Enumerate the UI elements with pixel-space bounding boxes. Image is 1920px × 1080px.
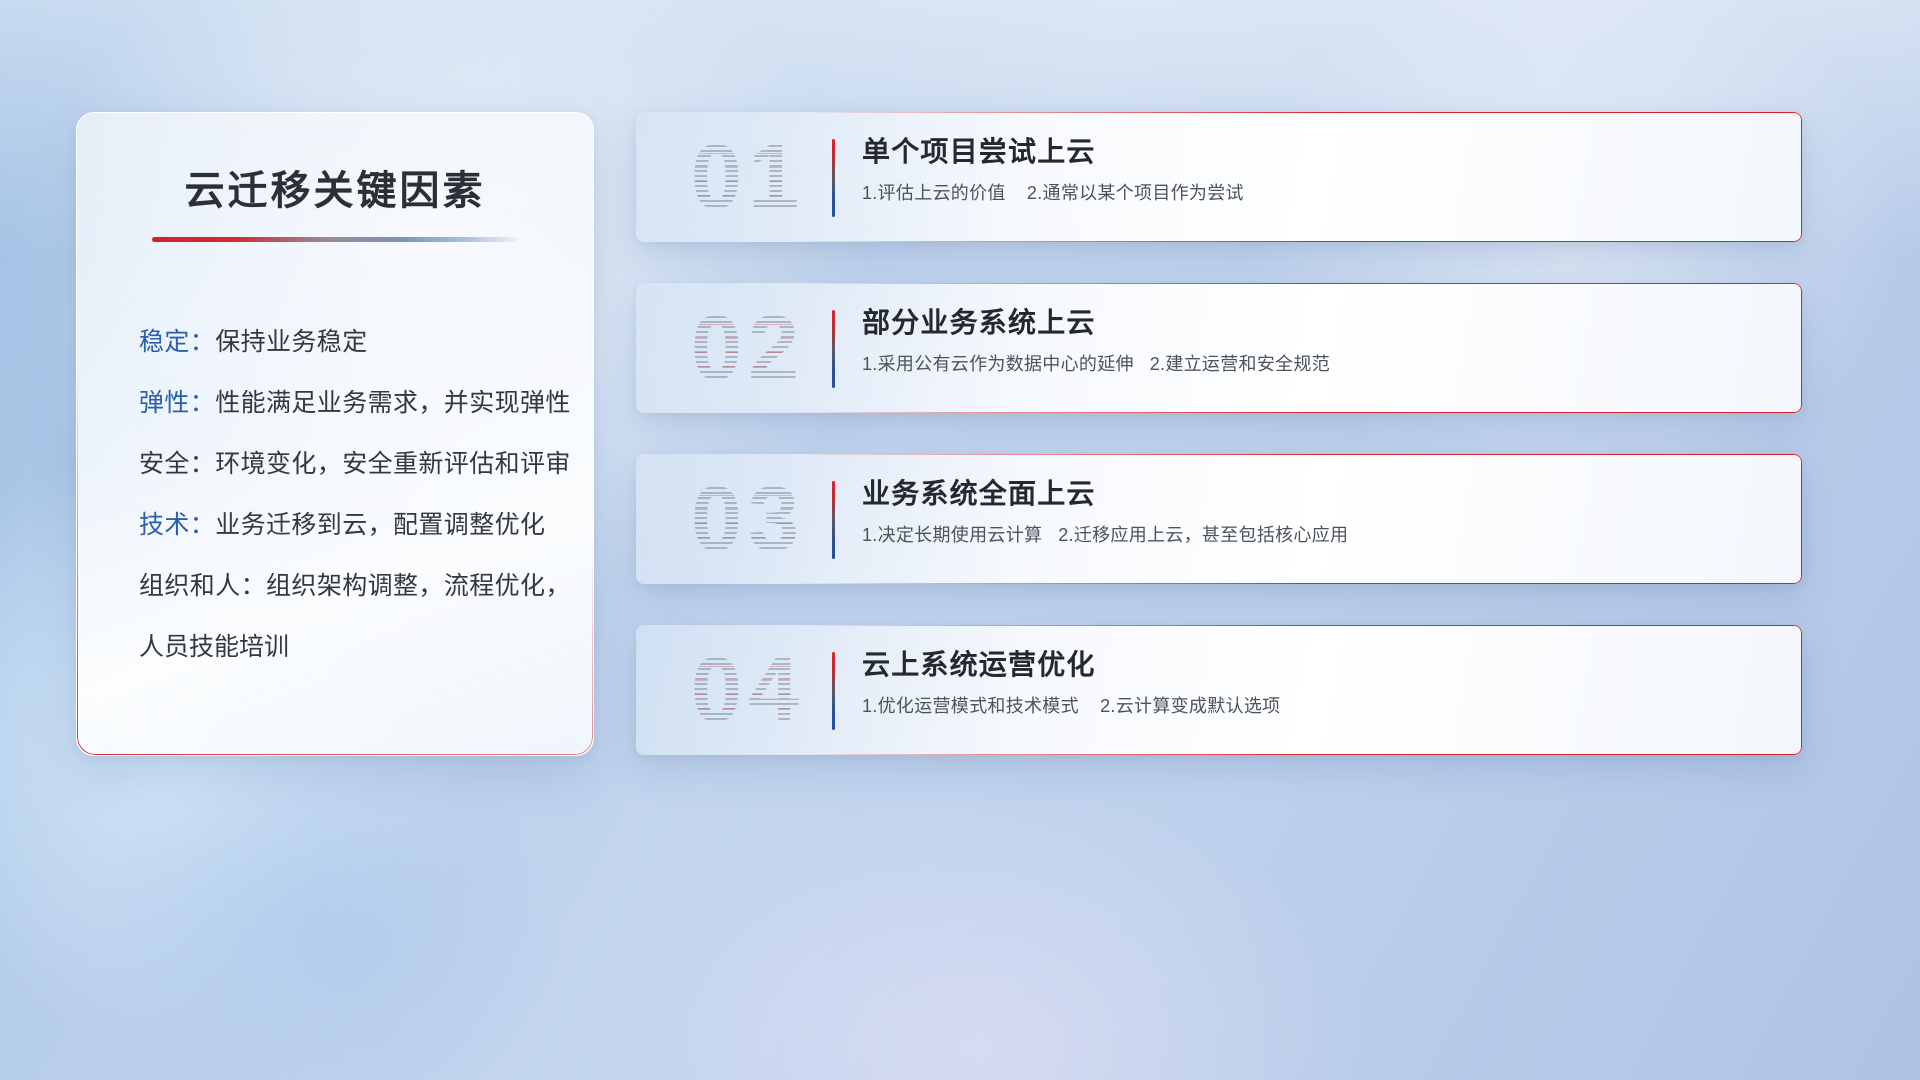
factor-value: 性能满足业务需求，并实现弹性 <box>215 389 571 417</box>
step-accent-bar <box>832 652 835 730</box>
step-description: 1.决定长期使用云计算 2.迁移应用上云，甚至包括核心应用 <box>862 524 1778 547</box>
factor-continuation: 人员技能培训 <box>139 617 551 678</box>
factor-value: 组织架构调整，流程优化， <box>266 572 571 600</box>
step-card-01[interactable]: 01 01 单个项目尝试上云 1.评估上云的价值 2.通常以某个项目作为尝试 <box>636 112 1802 242</box>
factor-row: 稳定：保持业务稳定 <box>139 312 551 373</box>
factor-row: 弹性：性能满足业务需求，并实现弹性 <box>139 373 551 434</box>
steps-list: 01 01 单个项目尝试上云 1.评估上云的价值 2.通常以某个项目作为尝试 0… <box>636 112 1802 796</box>
factor-key: 稳定： <box>139 328 215 356</box>
factor-value: 保持业务稳定 <box>215 328 367 356</box>
factor-value: 业务迁移到云，配置调整优化 <box>215 511 545 539</box>
step-description: 1.优化运营模式和技术模式 2.云计算变成默认选项 <box>862 695 1778 718</box>
key-factors-card: 云迁移关键因素 稳定：保持业务稳定 弹性：性能满足业务需求，并实现弹性 安全：环… <box>76 112 594 756</box>
step-text-block: 云上系统运营优化 1.优化运营模式和技术模式 2.云计算变成默认选项 <box>862 647 1778 718</box>
factor-row: 组织和人：组织架构调整，流程优化， <box>139 556 551 617</box>
step-text-block: 单个项目尝试上云 1.评估上云的价值 2.通常以某个项目作为尝试 <box>862 134 1778 205</box>
factor-key: 组织和人： <box>139 572 266 600</box>
step-number-02: 02 <box>658 296 838 400</box>
slide-stage: 云迁移关键因素 稳定：保持业务稳定 弹性：性能满足业务需求，并实现弹性 安全：环… <box>0 0 1920 1080</box>
step-text-block: 业务系统全面上云 1.决定长期使用云计算 2.迁移应用上云，甚至包括核心应用 <box>862 476 1778 547</box>
step-heading: 业务系统全面上云 <box>862 476 1778 511</box>
step-description: 1.评估上云的价值 2.通常以某个项目作为尝试 <box>862 182 1778 205</box>
page-title: 云迁移关键因素 <box>119 167 551 215</box>
step-accent-bar <box>832 310 835 388</box>
factor-row: 安全：环境变化，安全重新评估和评审 <box>139 434 551 495</box>
step-heading: 部分业务系统上云 <box>862 305 1778 340</box>
step-description: 1.采用公有云作为数据中心的延伸 2.建立运营和安全规范 <box>862 353 1778 376</box>
factor-value: 环境变化，安全重新评估和评审 <box>215 450 571 478</box>
step-card-03[interactable]: 03 03 业务系统全面上云 1.决定长期使用云计算 2.迁移应用上云，甚至包括… <box>636 454 1802 584</box>
factor-list: 稳定：保持业务稳定 弹性：性能满足业务需求，并实现弹性 安全：环境变化，安全重新… <box>119 312 551 678</box>
step-heading: 云上系统运营优化 <box>862 647 1778 682</box>
factor-row: 技术：业务迁移到云，配置调整优化 <box>139 495 551 556</box>
step-text-block: 部分业务系统上云 1.采用公有云作为数据中心的延伸 2.建立运营和安全规范 <box>862 305 1778 376</box>
step-card-04[interactable]: 04 04 云上系统运营优化 1.优化运营模式和技术模式 2.云计算变成默认选项 <box>636 625 1802 755</box>
step-accent-bar <box>832 139 835 217</box>
factor-key: 技术： <box>139 511 215 539</box>
title-underline-rule <box>152 237 518 242</box>
step-card-02[interactable]: 02 02 部分业务系统上云 1.采用公有云作为数据中心的延伸 2.建立运营和安… <box>636 283 1802 413</box>
step-accent-bar <box>832 481 835 559</box>
step-number-01: 01 <box>658 125 838 229</box>
step-number-04: 04 <box>658 638 838 742</box>
factor-key: 安全： <box>139 450 215 478</box>
key-factors-card-body: 云迁移关键因素 稳定：保持业务稳定 弹性：性能满足业务需求，并实现弹性 安全：环… <box>77 113 593 678</box>
step-heading: 单个项目尝试上云 <box>862 134 1778 169</box>
factor-key: 弹性： <box>139 389 215 417</box>
step-number-03: 03 <box>658 467 838 571</box>
